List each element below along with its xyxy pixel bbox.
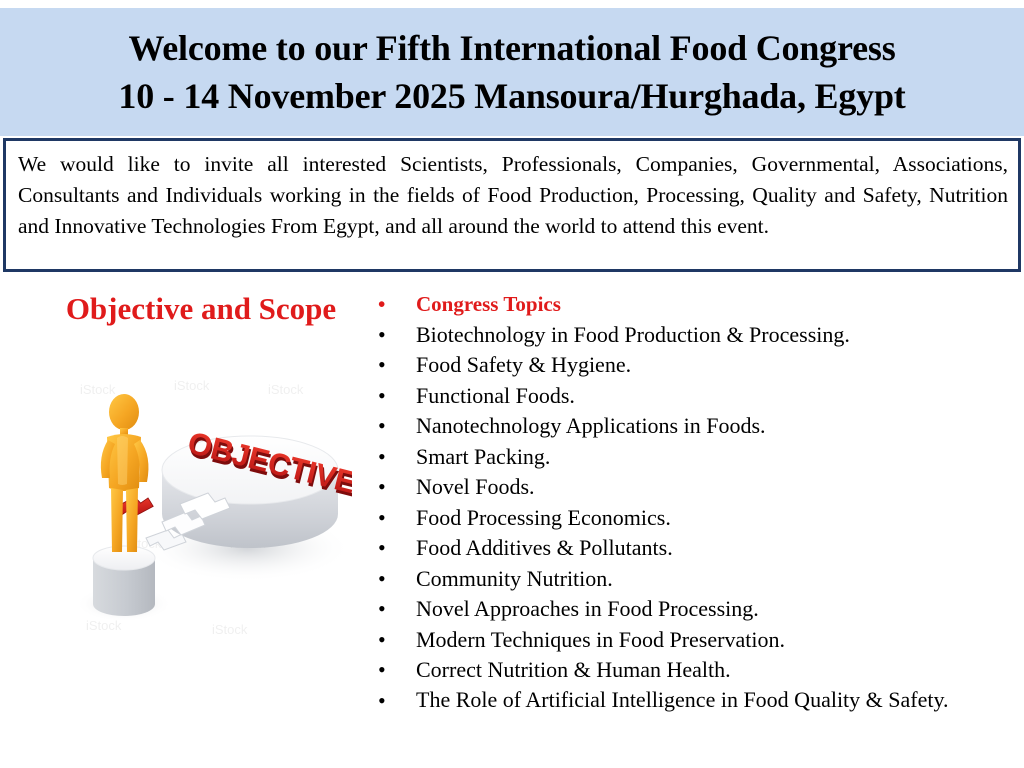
bullet-icon: •: [374, 381, 416, 412]
bullet-icon: •: [374, 472, 416, 503]
topic-label: Correct Nutrition & Human Health.: [416, 655, 1014, 686]
list-item: •Food Additives & Pollutants.: [374, 533, 1014, 564]
svg-text:iStock: iStock: [174, 378, 210, 393]
bullet-icon: •: [374, 411, 416, 442]
bullet-icon: •: [374, 533, 416, 564]
list-item: •The Role of Artificial Intelligence in …: [374, 686, 1014, 717]
topic-label: Food Safety & Hygiene.: [416, 350, 1014, 381]
topic-label: Food Processing Economics.: [416, 503, 1014, 534]
bullet-icon: •: [374, 442, 416, 473]
bullet-icon: •: [374, 289, 416, 320]
topics-heading-label: Congress Topics: [416, 289, 1014, 320]
list-item: •Novel Approaches in Food Processing.: [374, 594, 1014, 625]
bullet-icon: •: [374, 594, 416, 625]
list-item: •Nanotechnology Applications in Foods.: [374, 411, 1014, 442]
list-item: •Community Nutrition.: [374, 564, 1014, 595]
svg-text:iStock: iStock: [80, 382, 116, 397]
invitation-box: We would like to invite all interested S…: [3, 138, 1021, 272]
header-banner: Welcome to our Fifth International Food …: [0, 8, 1024, 136]
list-item: •Biotechnology in Food Production & Proc…: [374, 320, 1014, 351]
congress-title-line-1: Welcome to our Fifth International Food …: [128, 24, 895, 72]
list-item: •Congress Topics: [374, 289, 1014, 320]
objectives-3d-graphic: iStock iStock iStock iStock iStock iStoc…: [62, 352, 352, 664]
svg-text:iStock: iStock: [212, 622, 248, 637]
bullet-icon: •: [374, 564, 416, 595]
list-item: •Functional Foods.: [374, 381, 1014, 412]
svg-text:iStock: iStock: [268, 382, 304, 397]
list-item: •Smart Packing.: [374, 442, 1014, 473]
topic-label: Biotechnology in Food Production & Proce…: [416, 320, 1014, 351]
list-item: •Food Safety & Hygiene.: [374, 350, 1014, 381]
congress-topics-list: •Congress Topics•Biotechnology in Food P…: [374, 289, 1014, 716]
list-item: •Modern Techniques in Food Preservation.: [374, 625, 1014, 656]
topic-label: Modern Techniques in Food Preservation.: [416, 625, 1014, 656]
invitation-paragraph: We would like to invite all interested S…: [18, 149, 1008, 242]
list-item: •Correct Nutrition & Human Health.: [374, 655, 1014, 686]
objective-and-scope-heading: Objective and Scope: [36, 290, 366, 328]
topic-label: Functional Foods.: [416, 381, 1014, 412]
bullet-icon: •: [374, 320, 416, 351]
topic-label: Novel Approaches in Food Processing.: [416, 594, 1014, 625]
bullet-icon: •: [374, 655, 416, 686]
congress-title-line-2: 10 - 14 November 2025 Mansoura/Hurghada,…: [118, 72, 905, 120]
topic-label: Novel Foods.: [416, 472, 1014, 503]
topic-label: Nanotechnology Applications in Foods.: [416, 411, 1014, 442]
topic-label: Smart Packing.: [416, 442, 1014, 473]
bullet-icon: •: [374, 503, 416, 534]
bullet-icon: •: [374, 350, 416, 381]
list-item: •Novel Foods.: [374, 472, 1014, 503]
topic-label: Community Nutrition.: [416, 564, 1014, 595]
topic-label: Food Additives & Pollutants.: [416, 533, 1014, 564]
objectives-illustration: iStock iStock iStock iStock iStock iStoc…: [62, 352, 352, 664]
bullet-icon: •: [374, 625, 416, 656]
bullet-icon: •: [374, 686, 416, 717]
list-item: •Food Processing Economics.: [374, 503, 1014, 534]
topic-label: The Role of Artificial Intelligence in F…: [416, 686, 986, 713]
